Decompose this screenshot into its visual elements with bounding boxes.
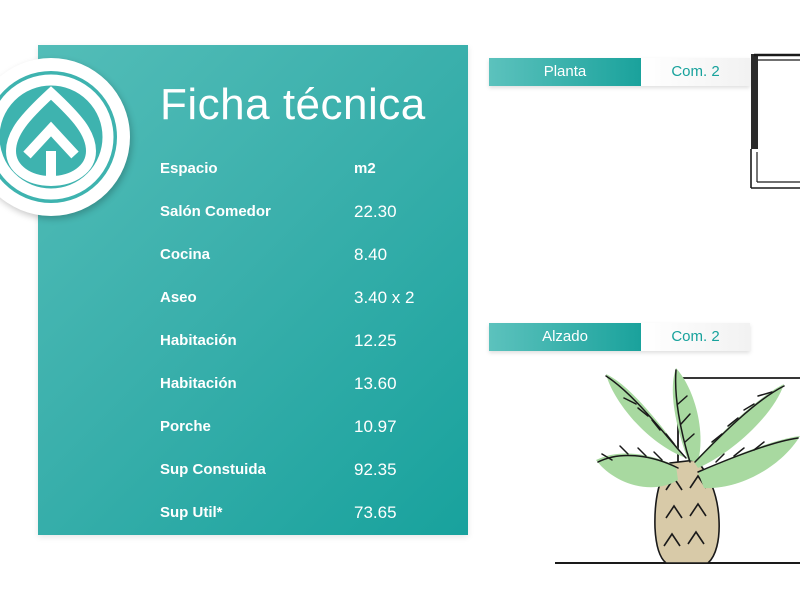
spec-table: Espaciom2 Salón Comedor22.30 Cocina8.40 …: [160, 147, 460, 534]
spec-label: Espacio: [160, 147, 354, 190]
spec-label: Aseo: [160, 276, 354, 319]
spec-value: 3.40 x 2: [354, 276, 415, 319]
elevation-drawing: [548, 368, 800, 573]
spec-value: 73.65: [354, 491, 397, 534]
tab-alzado[interactable]: Alzado: [489, 323, 641, 351]
table-row: Aseo3.40 x 2: [160, 276, 460, 319]
spec-label: Porche: [160, 405, 354, 448]
spec-label: Habitación: [160, 362, 354, 405]
table-row: Sup Util*73.65: [160, 491, 460, 534]
table-row: Habitación12.25: [160, 319, 460, 362]
floor-plan-drawing: [745, 48, 800, 193]
spec-label: Cocina: [160, 233, 354, 276]
page-title: Ficha técnica: [160, 80, 426, 130]
tabbar-planta: Planta Com. 2: [489, 58, 750, 86]
spec-label: Sup Util*: [160, 491, 354, 534]
spec-value: 13.60: [354, 362, 397, 405]
table-row: Cocina8.40: [160, 233, 460, 276]
tabbar-alzado: Alzado Com. 2: [489, 323, 750, 351]
table-row: Espaciom2: [160, 147, 460, 190]
logo-badge: [0, 58, 130, 216]
spec-label: Salón Comedor: [160, 190, 354, 233]
spec-value: 92.35: [354, 448, 397, 491]
spec-value: 22.30: [354, 190, 397, 233]
tab-planta[interactable]: Planta: [489, 58, 641, 86]
tab-planta-com2[interactable]: Com. 2: [641, 58, 750, 86]
spec-label: Habitación: [160, 319, 354, 362]
spec-value: 12.25: [354, 319, 397, 362]
table-row: Sup Constuida92.35: [160, 448, 460, 491]
spec-label: Sup Constuida: [160, 448, 354, 491]
spec-value: m2: [354, 147, 376, 190]
table-row: Salón Comedor22.30: [160, 190, 460, 233]
spec-value: 10.97: [354, 405, 397, 448]
tab-alzado-com2[interactable]: Com. 2: [641, 323, 750, 351]
table-row: Porche10.97: [160, 405, 460, 448]
leaf-house-logo-icon: [0, 71, 117, 203]
table-row: Habitación13.60: [160, 362, 460, 405]
spec-value: 8.40: [354, 233, 387, 276]
